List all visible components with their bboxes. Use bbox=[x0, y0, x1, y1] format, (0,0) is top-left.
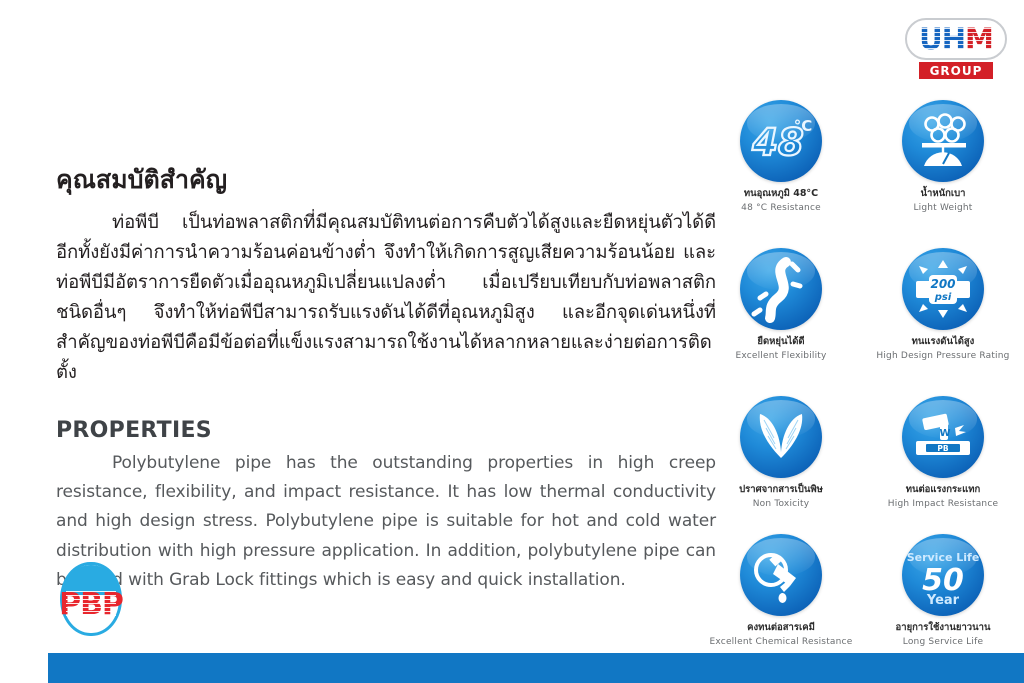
feature-label-th: คงทนต่อสารเคมี bbox=[700, 622, 862, 635]
svg-text:200: 200 bbox=[930, 277, 955, 291]
feature-item-flexibility: ยืดหยุ่นได้ดี Excellent Flexibility bbox=[700, 248, 862, 363]
feature-item-impact: PB W ทนต่อแรงกระแทก High Impact Resistan… bbox=[862, 396, 1024, 511]
pressure-200psi-icon: 200 psi bbox=[902, 248, 984, 330]
uhm-logo-group-text: GROUP bbox=[930, 64, 983, 78]
feature-label-en: High Impact Resistance bbox=[862, 498, 1024, 511]
feature-label-en: Light Weight bbox=[862, 202, 1024, 215]
feature-item-chemical: คงทนต่อสารเคมี Excellent Chemical Resist… bbox=[700, 534, 862, 649]
svg-text:W: W bbox=[939, 428, 950, 439]
uhm-logo-m-text: M bbox=[965, 25, 993, 54]
uhm-logo-uh-text: UH bbox=[919, 25, 965, 54]
non-toxic-leaf-icon bbox=[740, 396, 822, 478]
temperature-48c-icon: 48 °C bbox=[740, 100, 822, 182]
feature-label-en: Excellent Flexibility bbox=[700, 350, 862, 363]
feature-label-th: อายุการใช้งานยาวนาน bbox=[862, 622, 1024, 635]
light-weight-balance-icon bbox=[902, 100, 984, 182]
english-heading: PROPERTIES bbox=[56, 418, 716, 443]
uhm-logo-letters: UHM bbox=[905, 18, 1007, 60]
feature-label-en: Excellent Chemical Resistance bbox=[700, 636, 862, 649]
pbp-logo: PBP bbox=[52, 562, 130, 644]
feature-label-th: ทนอุณหภูมิ 48°C bbox=[700, 188, 862, 201]
uhm-logo-group-bar: GROUP bbox=[919, 62, 993, 79]
feature-label-en: Long Service Life bbox=[862, 636, 1024, 649]
feature-label-en: Non Toxicity bbox=[700, 498, 862, 511]
feature-label-th: ทนแรงดันได้สูง bbox=[862, 336, 1024, 349]
service-life-50-year-icon: Service Life 50 Year bbox=[902, 534, 984, 616]
feature-label-th: ทนต่อแรงกระแทก bbox=[862, 484, 1024, 497]
feature-label-th: น้ำหนักเบา bbox=[862, 188, 1024, 201]
slide-page: UHM GROUP คุณสมบัติสำคัญ ท่อพีบี เป็นท่อ… bbox=[0, 0, 1024, 683]
impact-hammer-pipe-icon: PB W bbox=[902, 396, 984, 478]
english-body-paragraph: Polybutylene pipe has the outstanding pr… bbox=[56, 449, 716, 595]
svg-text:°C: °C bbox=[794, 117, 813, 135]
svg-text:PB: PB bbox=[937, 444, 948, 453]
thai-body-paragraph: ท่อพีบี เป็นท่อพลาสติกที่มีคุณสมบัติทนต่… bbox=[56, 208, 716, 388]
pbp-logo-stripe-overlay bbox=[66, 591, 116, 619]
feature-item-pressure: 200 psi ทนแรงดันได้สูง High Design Press… bbox=[862, 248, 1024, 363]
feature-label-th: ปราศจากสารเป็นพิษ bbox=[700, 484, 862, 497]
feature-item-non-toxic: ปราศจากสารเป็นพิษ Non Toxicity bbox=[700, 396, 862, 511]
uhm-group-logo: UHM GROUP bbox=[905, 18, 1007, 80]
feature-label-en: High Design Pressure Rating bbox=[862, 350, 1024, 363]
feature-label-en: 48 °C Resistance bbox=[700, 202, 862, 215]
feature-item-light-weight: น้ำหนักเบา Light Weight bbox=[862, 100, 1024, 215]
svg-text:Year: Year bbox=[926, 593, 960, 608]
feature-item-service-life: Service Life 50 Year อายุการใช้งานยาวนาน… bbox=[862, 534, 1024, 649]
feature-label-th: ยืดหยุ่นได้ดี bbox=[700, 336, 862, 349]
thai-heading: คุณสมบัติสำคัญ bbox=[56, 160, 716, 200]
feature-item-temperature: 48 °C ทนอุณหภูมิ 48°C 48 °C Resistance bbox=[700, 100, 862, 215]
chemical-flask-drop-icon bbox=[740, 534, 822, 616]
flexible-pipe-icon bbox=[740, 248, 822, 330]
content-text-column: คุณสมบัติสำคัญ ท่อพีบี เป็นท่อพลาสติกที่… bbox=[56, 160, 716, 595]
svg-text:psi: psi bbox=[934, 292, 952, 303]
feature-icon-grid: 48 °C ทนอุณหภูมิ 48°C 48 °C Resistance bbox=[700, 100, 1024, 660]
